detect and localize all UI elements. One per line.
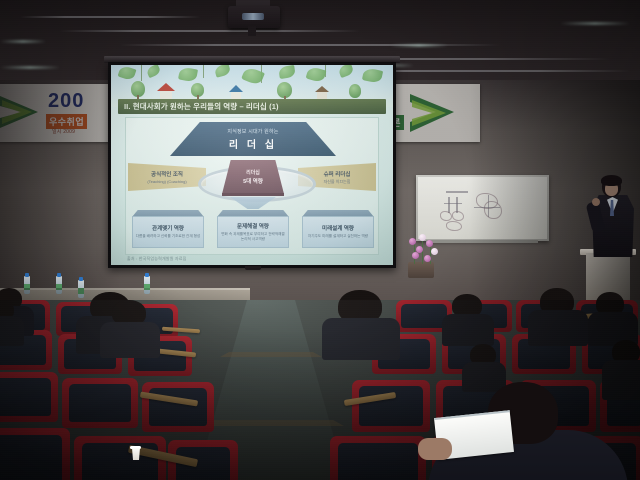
speaker-hair [601,175,622,186]
projection-glare [111,65,393,265]
ceiling-light [560,22,630,25]
orchid-bloom [431,248,438,255]
orchid-bloom [419,234,426,241]
ceiling-beam [60,30,360,32]
ceiling-beam [20,16,200,18]
ceiling-light [0,66,60,69]
projector-lens [242,13,264,20]
lecture-hall-photo: 200 우수취업 일시 2009 수회 공전학토론 학교 환경공학과 [0,0,640,480]
ceiling-projector [228,6,280,28]
orchid-bloom [424,255,431,262]
slide-content: II. 현대사회가 원하는 우리들의 역량 – 리더십 (1) 지식정보 시대가… [111,65,393,265]
ceiling-light [390,44,448,47]
screen-weight-bar [245,266,261,270]
orchid-bloom [409,238,416,245]
orchid-bloom [426,240,433,247]
plant-pot [408,262,434,278]
projection-screen: II. 현대사회가 원하는 우리들의 역량 – 리더십 (1) 지식정보 시대가… [111,65,393,265]
orchid-bloom [412,252,419,259]
ceiling-light [0,40,46,43]
speaker-hand [592,198,600,206]
projector-pole [248,26,256,36]
